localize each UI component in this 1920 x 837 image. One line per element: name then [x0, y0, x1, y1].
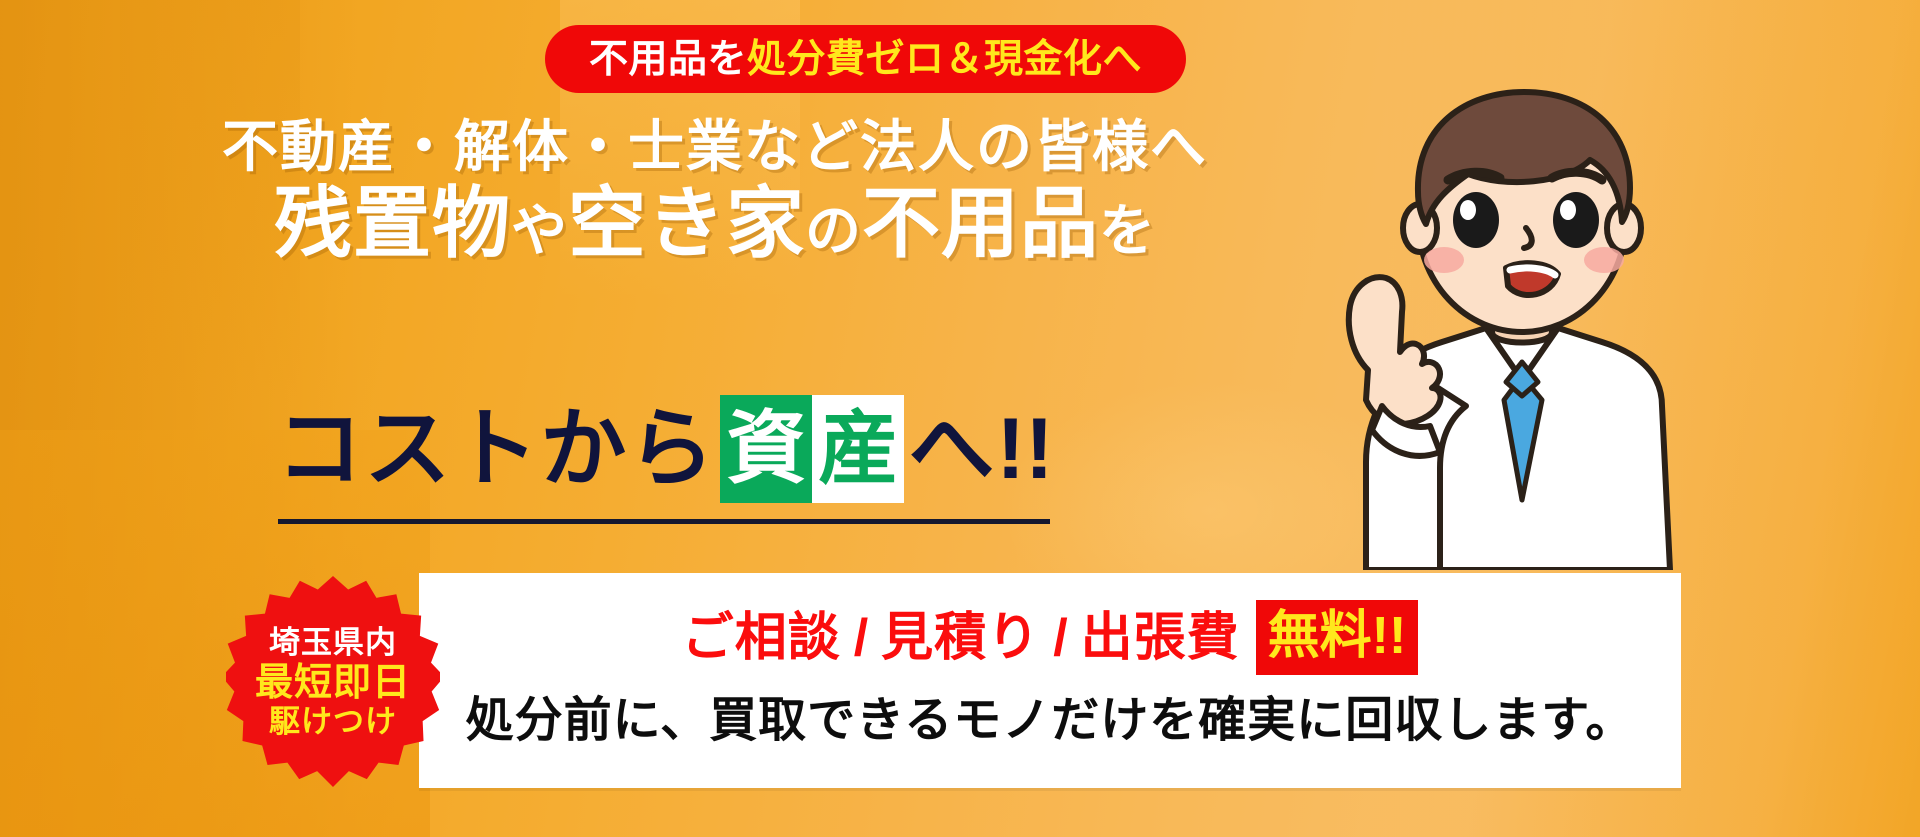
headline-underline-rule	[278, 519, 1050, 524]
headline-line-2: 残置物や空き家の不用品を	[0, 183, 1430, 265]
free-badge: 無料!!	[1256, 600, 1419, 675]
headline-seg-no: の	[805, 199, 862, 262]
top-ribbon-badge: 不用品を処分費ゼロ＆現金化へ	[545, 25, 1186, 93]
cost-to-asset-line: コストから 資 産 へ !!	[0, 395, 1330, 503]
ribbon-text-white: 不用品を	[589, 40, 747, 79]
cost-prefix-text: コストから	[276, 406, 716, 492]
headline-seg-ya: や	[511, 199, 568, 262]
headline-seg-fuyouhin: 不用品	[862, 179, 1099, 267]
ribbon-text-yellow: 処分費ゼロ＆現金化へ	[747, 40, 1142, 79]
headline-block: 不動産・解体・士業など法人の皆様へ 残置物や空き家の不用品を	[0, 118, 1430, 265]
info-card: ご相談 / 見積り / 出張費 無料!! 処分前に、買取できるモノだけを確実に回…	[419, 573, 1681, 788]
badge-line-dispatch: 駆けつけ	[269, 705, 397, 740]
badge-line-sameday: 最短即日	[255, 662, 411, 705]
hero-banner: 不用品を処分費ゼロ＆現金化へ 不動産・解体・士業など法人の皆様へ 残置物や空き家…	[0, 0, 1920, 837]
headline-seg-wo: を	[1099, 199, 1156, 262]
headline-seg-akiya: 空き家	[568, 179, 805, 267]
service-row: ご相談 / 見積り / 出張費 無料!!	[419, 600, 1681, 675]
service-consultation: ご相談	[682, 612, 841, 664]
badge-line-prefecture: 埼玉県内	[269, 626, 397, 661]
service-estimate: 見積り	[881, 612, 1040, 664]
chip-shi-green: 資	[720, 395, 812, 503]
chip-san-white: 産	[812, 395, 904, 503]
headline-seg-zanchibutsu: 残置物	[274, 179, 511, 267]
service-travel-fee: 出張費	[1081, 612, 1240, 664]
asset-chips: 資 産	[720, 395, 904, 503]
headline-line-1: 不動産・解体・士業など法人の皆様へ	[0, 118, 1430, 177]
card-tagline: 処分前に、買取できるモノだけを確実に回収します。	[419, 697, 1681, 745]
salesman-character-illustration	[1290, 70, 1720, 570]
cost-exclamation: !!	[996, 406, 1053, 492]
service-separator-2: /	[1053, 608, 1067, 668]
badge-text-stack: 埼玉県内 最短即日 駆けつけ	[226, 576, 440, 790]
service-separator-1: /	[854, 608, 868, 668]
cost-suffix-text: へ	[908, 406, 996, 492]
same-day-starburst-badge: 埼玉県内 最短即日 駆けつけ	[226, 576, 440, 790]
